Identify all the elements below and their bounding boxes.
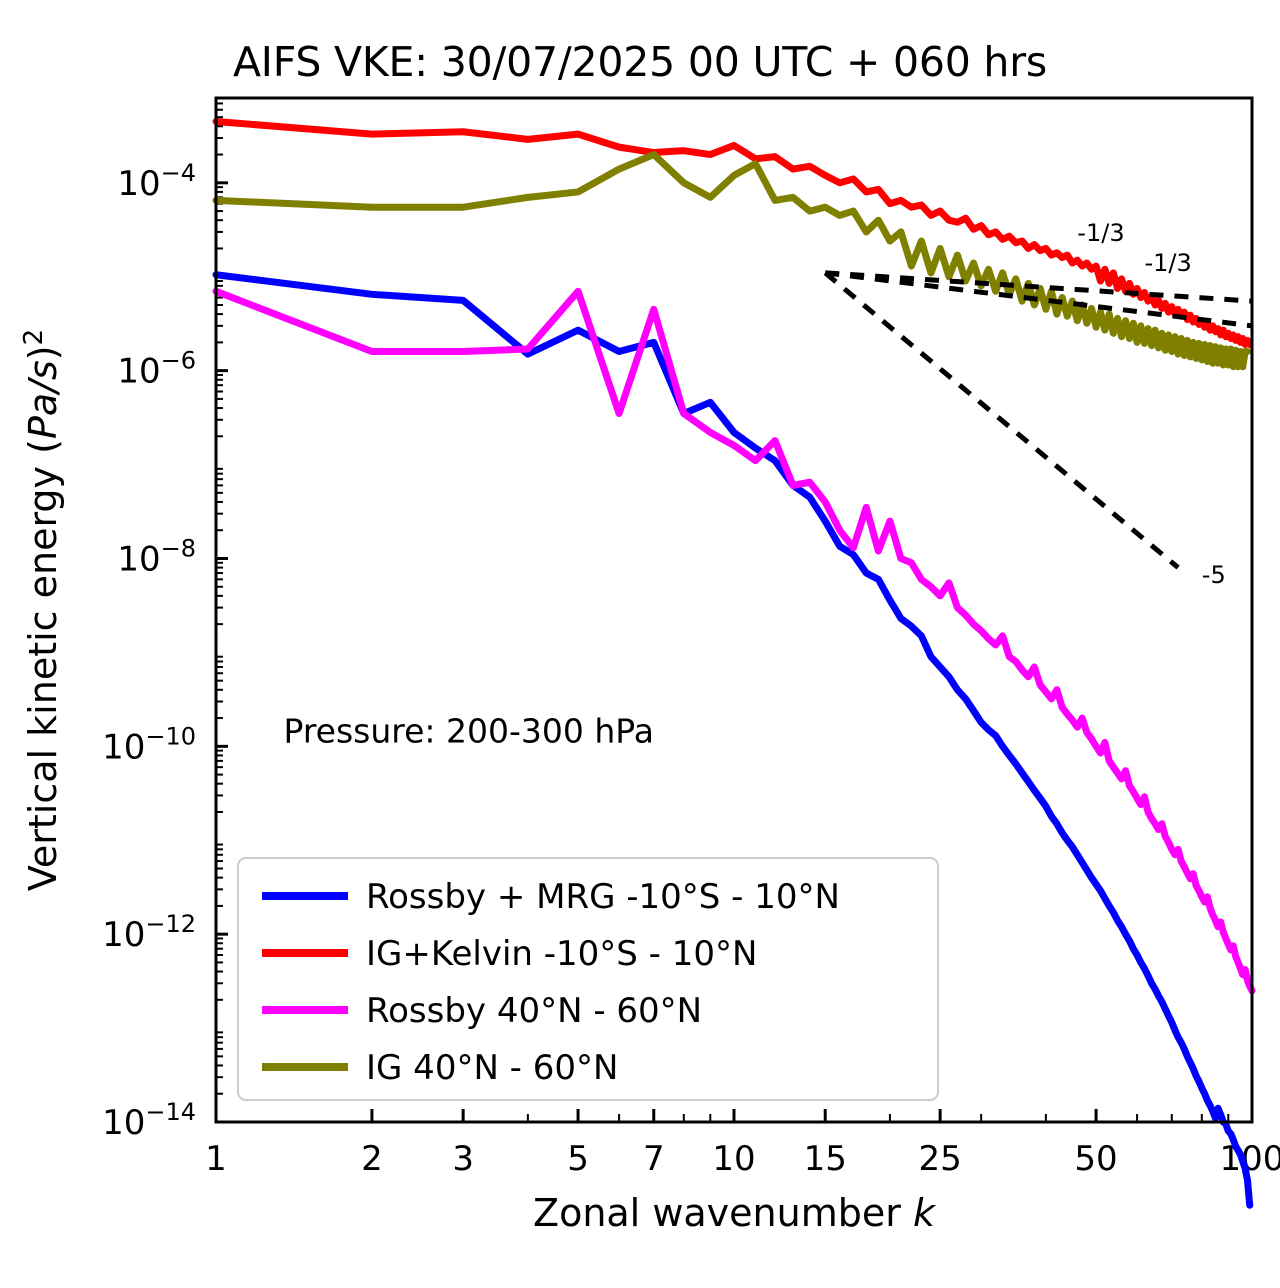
x-tick-label: 5: [567, 1139, 589, 1179]
x-tick-label: 2: [361, 1139, 383, 1179]
x-tick-label: 15: [804, 1139, 847, 1179]
x-tick-label: 10: [712, 1139, 755, 1179]
y-tick-label: 10−10: [102, 722, 196, 767]
legend-label: IG+Kelvin -10°S - 10°N: [366, 934, 757, 974]
y-axis-label-part1: Vertical kinetic energy (: [21, 439, 65, 891]
chart-plot: 10−410−610−810−1010−1210−14 123571015255…: [0, 0, 1280, 1288]
x-axis-label-italic: k: [913, 1191, 937, 1235]
y-tick-label: 10−14: [102, 1098, 196, 1143]
x-tick-label: 7: [643, 1139, 665, 1179]
y-tick-label: 10−12: [102, 910, 196, 955]
x-axis-label-main: Zonal wavenumber: [533, 1191, 913, 1235]
x-tick-label: 3: [452, 1139, 474, 1179]
slope-annotation: -1/3: [1144, 249, 1191, 277]
y-tick-label-group: 10−410−610−810−1010−1210−14: [102, 159, 196, 1143]
x-tick-label: 1: [205, 1139, 227, 1179]
x-axis-label: Zonal wavenumber k: [533, 1191, 937, 1235]
x-tick-label: 50: [1074, 1139, 1117, 1179]
series-line: [216, 155, 1247, 367]
legend-label: IG 40°N - 60°N: [366, 1048, 618, 1088]
y-axis-label-italic: Pa/s: [21, 360, 65, 439]
figure-container: AIFS VKE: 30/07/2025 00 UTC + 060 hrs 10…: [0, 0, 1280, 1288]
pressure-annotation: Pressure: 200-300 hPa: [284, 711, 654, 750]
y-axis-label: Vertical kinetic energy (Pa/s)2: [19, 329, 65, 891]
slope-annotation: -5: [1202, 561, 1226, 589]
x-tick-label-group: 1235710152550100: [205, 1139, 1280, 1179]
legend-label: Rossby 40°N - 60°N: [366, 991, 702, 1031]
y-tick-label: 10−8: [117, 534, 196, 579]
x-tick-label: 100: [1220, 1139, 1280, 1179]
y-tick-label: 10−6: [117, 347, 196, 392]
slope-annotation: -1/3: [1077, 219, 1124, 247]
y-axis-label-part2: ): [21, 345, 65, 360]
x-tick-label: 25: [919, 1139, 962, 1179]
y-axis-label-sup: 2: [19, 329, 49, 346]
reference-line: [825, 273, 1178, 568]
y-tick-label: 10−4: [117, 159, 196, 204]
legend-label: Rossby + MRG -10°S - 10°N: [366, 877, 840, 917]
legend: Rossby + MRG -10°S - 10°NIG+Kelvin -10°S…: [238, 858, 938, 1100]
